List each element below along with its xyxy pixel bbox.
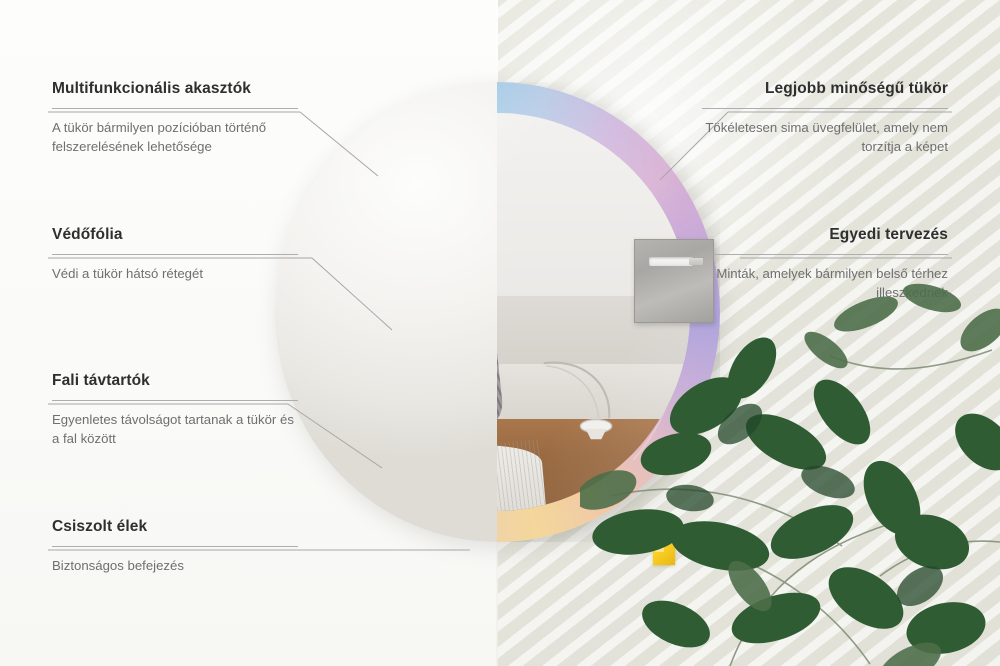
callout-description: A tükör bármilyen pozícióban történő fel… — [52, 118, 298, 156]
callout-rule — [702, 108, 948, 109]
callout-description: Biztonságos befejezés — [52, 556, 298, 575]
callout-wall-spacers: Fali távtartók Egyenletes távolságot tar… — [52, 372, 298, 448]
callout-description: Egyenletes távolságot tartanak a tükör é… — [52, 410, 298, 448]
callout-title: Multifunkcionális akasztók — [52, 80, 298, 99]
callout-title: Védőfólia — [52, 226, 298, 245]
callout-rule — [52, 108, 298, 109]
callout-rule — [52, 400, 298, 401]
callout-rule — [52, 254, 298, 255]
decorative-plant-foliage — [580, 246, 1000, 666]
callout-polished-edges: Csiszolt élek Biztonságos befejezés — [52, 518, 298, 575]
callout-title: Egyedi tervezés — [702, 226, 948, 245]
callout-title: Fali távtartók — [52, 372, 298, 391]
callout-protective-film: Védőfólia Védi a tükör hátsó rétegét — [52, 226, 298, 283]
leaf-branches-icon — [580, 246, 1000, 666]
leader-hangers-diag — [300, 112, 378, 176]
leader-film-diag — [312, 258, 392, 330]
callout-description: Tökéletesen sima üvegfelület, amely nem … — [702, 118, 948, 156]
leader-spacers-diag — [288, 404, 382, 468]
callout-best-quality-mirror: Legjobb minőségű tükör Tökéletesen sima … — [702, 80, 948, 156]
infographic-canvas: Multifunkcionális akasztók A tükör bármi… — [0, 0, 1000, 666]
callout-description: Védi a tükör hátsó rétegét — [52, 264, 298, 283]
callout-multifunctional-hangers: Multifunkcionális akasztók A tükör bármi… — [52, 80, 298, 156]
callout-title: Csiszolt élek — [52, 518, 298, 537]
callout-rule — [52, 546, 298, 547]
callout-title: Legjobb minőségű tükör — [702, 80, 948, 99]
